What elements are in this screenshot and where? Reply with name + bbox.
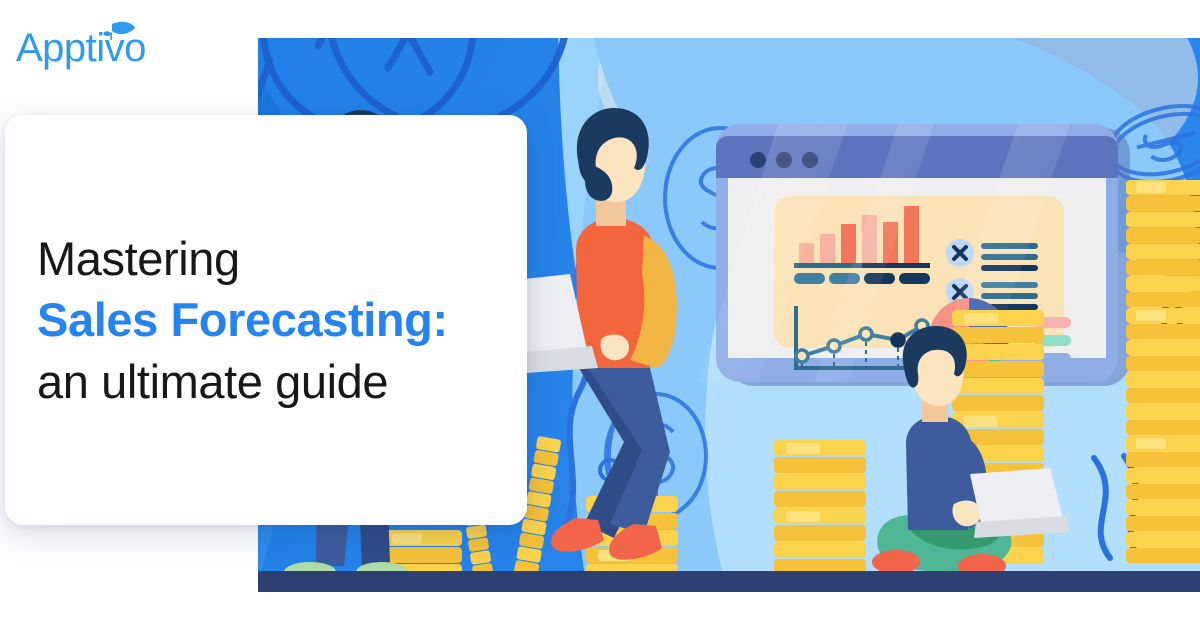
title-line-2: Sales Forecasting: [37,289,527,350]
browser-dot-1 [750,152,766,168]
title-line-1: Mastering [37,228,527,289]
apptivo-wordmark: Apptivo [16,26,146,70]
p3-shoe-1 [872,550,920,574]
apptivo-logo[interactable]: Apptivo [14,18,184,70]
ground-bar [258,571,1200,592]
title-card: Mastering Sales Forecasting: an ultimate… [5,115,527,525]
line-marker-4 [892,334,904,346]
bar-6 [904,206,919,263]
pill-1 [794,273,825,284]
title-line-3: an ultimate guide [37,351,527,412]
bar-3 [841,224,856,263]
pill-4 [899,273,930,284]
line-marker-1 [796,350,808,362]
bar-2 [820,234,835,263]
